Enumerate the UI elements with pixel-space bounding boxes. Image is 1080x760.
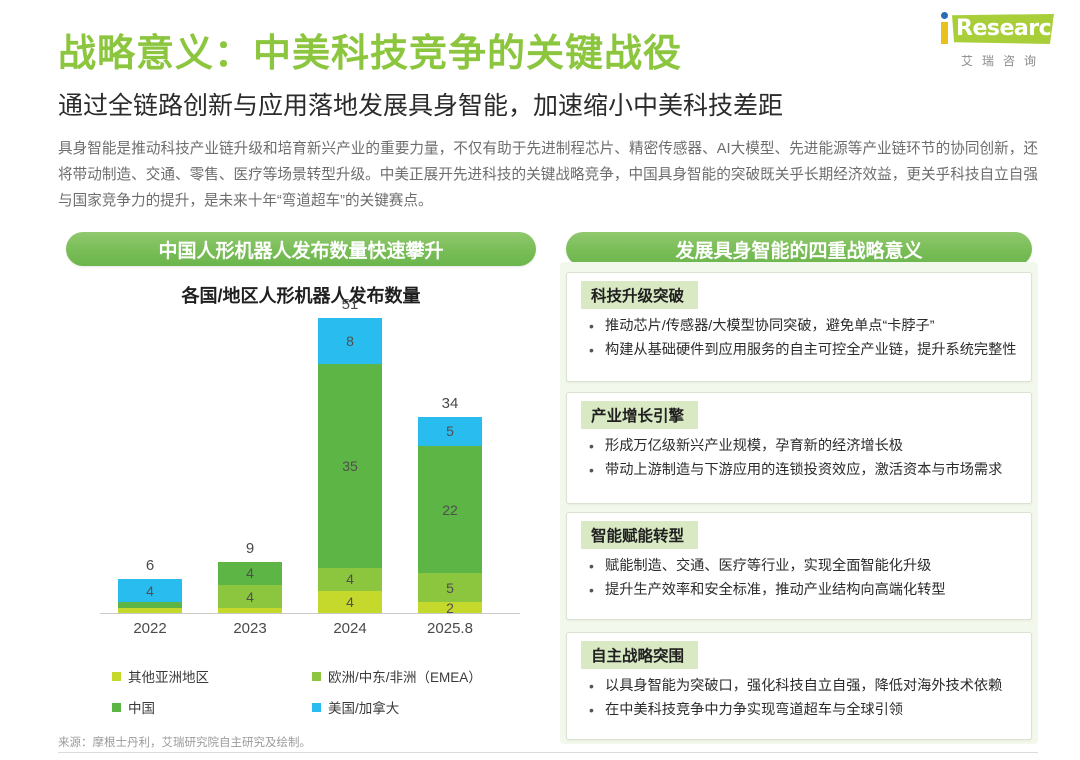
bar-group: 5183544 xyxy=(318,318,382,614)
card-title: 科技升级突破 xyxy=(581,281,698,309)
legend-item[interactable]: 其他亚洲地区 xyxy=(112,666,312,686)
x-axis-label: 2022 xyxy=(118,620,182,637)
legend-swatch-icon xyxy=(312,672,321,681)
bullet-dot-icon: • xyxy=(589,675,594,698)
card-title: 自主战略突围 xyxy=(581,641,698,669)
bar-group: 3452252 xyxy=(418,417,482,614)
page-subtitle: 通过全链路创新与应用落地发展具身智能，加速缩小中美科技差距 xyxy=(58,86,783,122)
x-axis-label: 2025.8 xyxy=(418,620,482,637)
bar-segment: 4 xyxy=(318,568,382,591)
logo-mark: Research xyxy=(938,12,1058,48)
bar-segment: 4 xyxy=(218,562,282,585)
bullet-dot-icon: • xyxy=(589,579,594,602)
bullet-dot-icon: • xyxy=(589,339,594,362)
x-axis-label: 2023 xyxy=(218,620,282,637)
legend-label: 欧洲/中东/非洲（EMEA） xyxy=(328,666,482,686)
card-bullet-item: •提升生产效率和安全标准，推动产业结构向高端化转型 xyxy=(585,579,1017,602)
legend-row: 其他亚洲地区欧洲/中东/非洲（EMEA） xyxy=(112,666,532,686)
legend-label: 美国/加拿大 xyxy=(328,697,399,717)
card-title: 产业增长引擎 xyxy=(581,401,698,429)
bar-segment: 5 xyxy=(418,573,482,602)
card-bullet-text: 形成万亿级新兴产业规模，孕育新的经济增长极 xyxy=(605,438,903,454)
x-axis-label: 2024 xyxy=(318,620,382,637)
logo-wordmark: Research xyxy=(956,16,1066,41)
card-title: 智能赋能转型 xyxy=(581,521,698,549)
legend-swatch-icon xyxy=(112,672,121,681)
legend-label: 其他亚洲地区 xyxy=(128,666,209,686)
strategy-card: 科技升级突破•推动芯片/传感器/大模型协同突破，避免单点“卡脖子”•构建从基础硬… xyxy=(566,272,1032,382)
chart-title: 各国/地区人形机器人发布数量 xyxy=(66,282,536,308)
bar-segment: 4 xyxy=(218,585,282,608)
card-bullet-item: •构建从基础硬件到应用服务的自主可控全产业链，提升系统完整性 xyxy=(585,339,1017,362)
source-note: 来源：摩根士丹利，艾瑞研究院自主研究及绘制。 xyxy=(58,734,311,750)
bar-total-label: 6 xyxy=(118,557,182,574)
card-bullet-text: 带动上游制造与下游应用的连锁投资效应，激活资本与市场需求 xyxy=(605,462,1002,478)
bar-segment: 4 xyxy=(118,579,182,602)
bar-total-label: 34 xyxy=(418,395,482,412)
bar-segment: 4 xyxy=(318,591,382,614)
logo-i-stem-icon xyxy=(941,22,948,44)
card-bullet-text: 提升生产效率和安全标准，推动产业结构向高端化转型 xyxy=(605,582,946,598)
logo-i-dot-icon xyxy=(941,12,948,19)
card-bullet-item: •以具身智能为突破口，强化科技自立自强，降低对海外技术依赖 xyxy=(585,675,1017,698)
card-bullet-item: •赋能制造、交通、医疗等行业，实现全面智能化升级 xyxy=(585,555,1017,578)
legend-item[interactable]: 中国 xyxy=(112,697,312,717)
legend-row: 中国美国/加拿大 xyxy=(112,697,532,717)
card-bullet-item: •在中美科技竞争中力争实现弯道超车与全球引领 xyxy=(585,699,1017,722)
card-bullet-text: 赋能制造、交通、医疗等行业，实现全面智能化升级 xyxy=(605,558,931,574)
strategy-card: 自主战略突围•以具身智能为突破口，强化科技自立自强，降低对海外技术依赖•在中美科… xyxy=(566,632,1032,740)
right-panel-header: 发展具身智能的四重战略意义 xyxy=(566,232,1032,266)
card-bullet-text: 在中美科技竞争中力争实现弯道超车与全球引领 xyxy=(605,702,903,718)
card-bullet-item: •推动芯片/传感器/大模型协同突破，避免单点“卡脖子” xyxy=(585,315,1017,338)
card-bullet-text: 构建从基础硬件到应用服务的自主可控全产业链，提升系统完整性 xyxy=(605,342,1016,358)
slide-root: 战略意义：中美科技竞争的关键战役 通过全链路创新与应用落地发展具身智能，加速缩小… xyxy=(0,0,1080,760)
footer-divider xyxy=(58,752,1038,753)
stacked-bar-chart: 6494451835443452252 xyxy=(100,318,520,614)
card-bullet-list: •推动芯片/传感器/大模型协同突破，避免单点“卡脖子”•构建从基础硬件到应用服务… xyxy=(567,315,1031,362)
legend-item[interactable]: 欧洲/中东/非洲（EMEA） xyxy=(312,666,482,686)
bar-segment: 8 xyxy=(318,318,382,364)
card-bullet-list: •赋能制造、交通、医疗等行业，实现全面智能化升级•提升生产效率和安全标准，推动产… xyxy=(567,555,1031,602)
card-bullet-list: •形成万亿级新兴产业规模，孕育新的经济增长极•带动上游制造与下游应用的连锁投资效… xyxy=(567,435,1031,482)
legend-label: 中国 xyxy=(128,697,155,717)
bullet-dot-icon: • xyxy=(589,315,594,338)
card-bullet-item: •形成万亿级新兴产业规模，孕育新的经济增长极 xyxy=(585,435,1017,458)
strategy-card: 智能赋能转型•赋能制造、交通、医疗等行业，实现全面智能化升级•提升生产效率和安全… xyxy=(566,512,1032,620)
bar-total-label: 9 xyxy=(218,540,282,557)
bar-segment: 5 xyxy=(418,417,482,446)
page-title: 战略意义：中美科技竞争的关键战役 xyxy=(58,22,682,77)
iresearch-logo: Research 艾瑞咨询 xyxy=(938,12,1058,74)
card-bullet-item: •带动上游制造与下游应用的连锁投资效应，激活资本与市场需求 xyxy=(585,459,1017,482)
bullet-dot-icon: • xyxy=(589,435,594,458)
legend-swatch-icon xyxy=(312,703,321,712)
bullet-dot-icon: • xyxy=(589,555,594,578)
chart-baseline-axis xyxy=(100,613,520,614)
legend-swatch-icon xyxy=(112,703,121,712)
chart-legend: 其他亚洲地区欧洲/中东/非洲（EMEA）中国美国/加拿大 xyxy=(112,666,532,728)
strategy-card: 产业增长引擎•形成万亿级新兴产业规模，孕育新的经济增长极•带动上游制造与下游应用… xyxy=(566,392,1032,504)
left-panel-header: 中国人形机器人发布数量快速攀升 xyxy=(66,232,536,266)
intro-paragraph: 具身智能是推动科技产业链升级和培育新兴产业的重要力量，不仅有助于先进制程芯片、精… xyxy=(58,136,1038,214)
card-bullet-list: •以具身智能为突破口，强化科技自立自强，降低对海外技术依赖•在中美科技竞争中力争… xyxy=(567,675,1031,722)
logo-chinese-name: 艾瑞咨询 xyxy=(948,52,1058,69)
bar-group: 64 xyxy=(118,579,182,614)
legend-item[interactable]: 美国/加拿大 xyxy=(312,697,399,717)
bullet-dot-icon: • xyxy=(589,459,594,482)
bar-segment: 22 xyxy=(418,446,482,574)
bar-segment: 35 xyxy=(318,364,382,567)
card-bullet-text: 以具身智能为突破口，强化科技自立自强，降低对海外技术依赖 xyxy=(605,678,1002,694)
card-bullet-text: 推动芯片/传感器/大模型协同突破，避免单点“卡脖子” xyxy=(605,318,934,334)
bullet-dot-icon: • xyxy=(589,699,594,722)
bar-total-label: 51 xyxy=(318,296,382,313)
bar-group: 944 xyxy=(218,562,282,614)
